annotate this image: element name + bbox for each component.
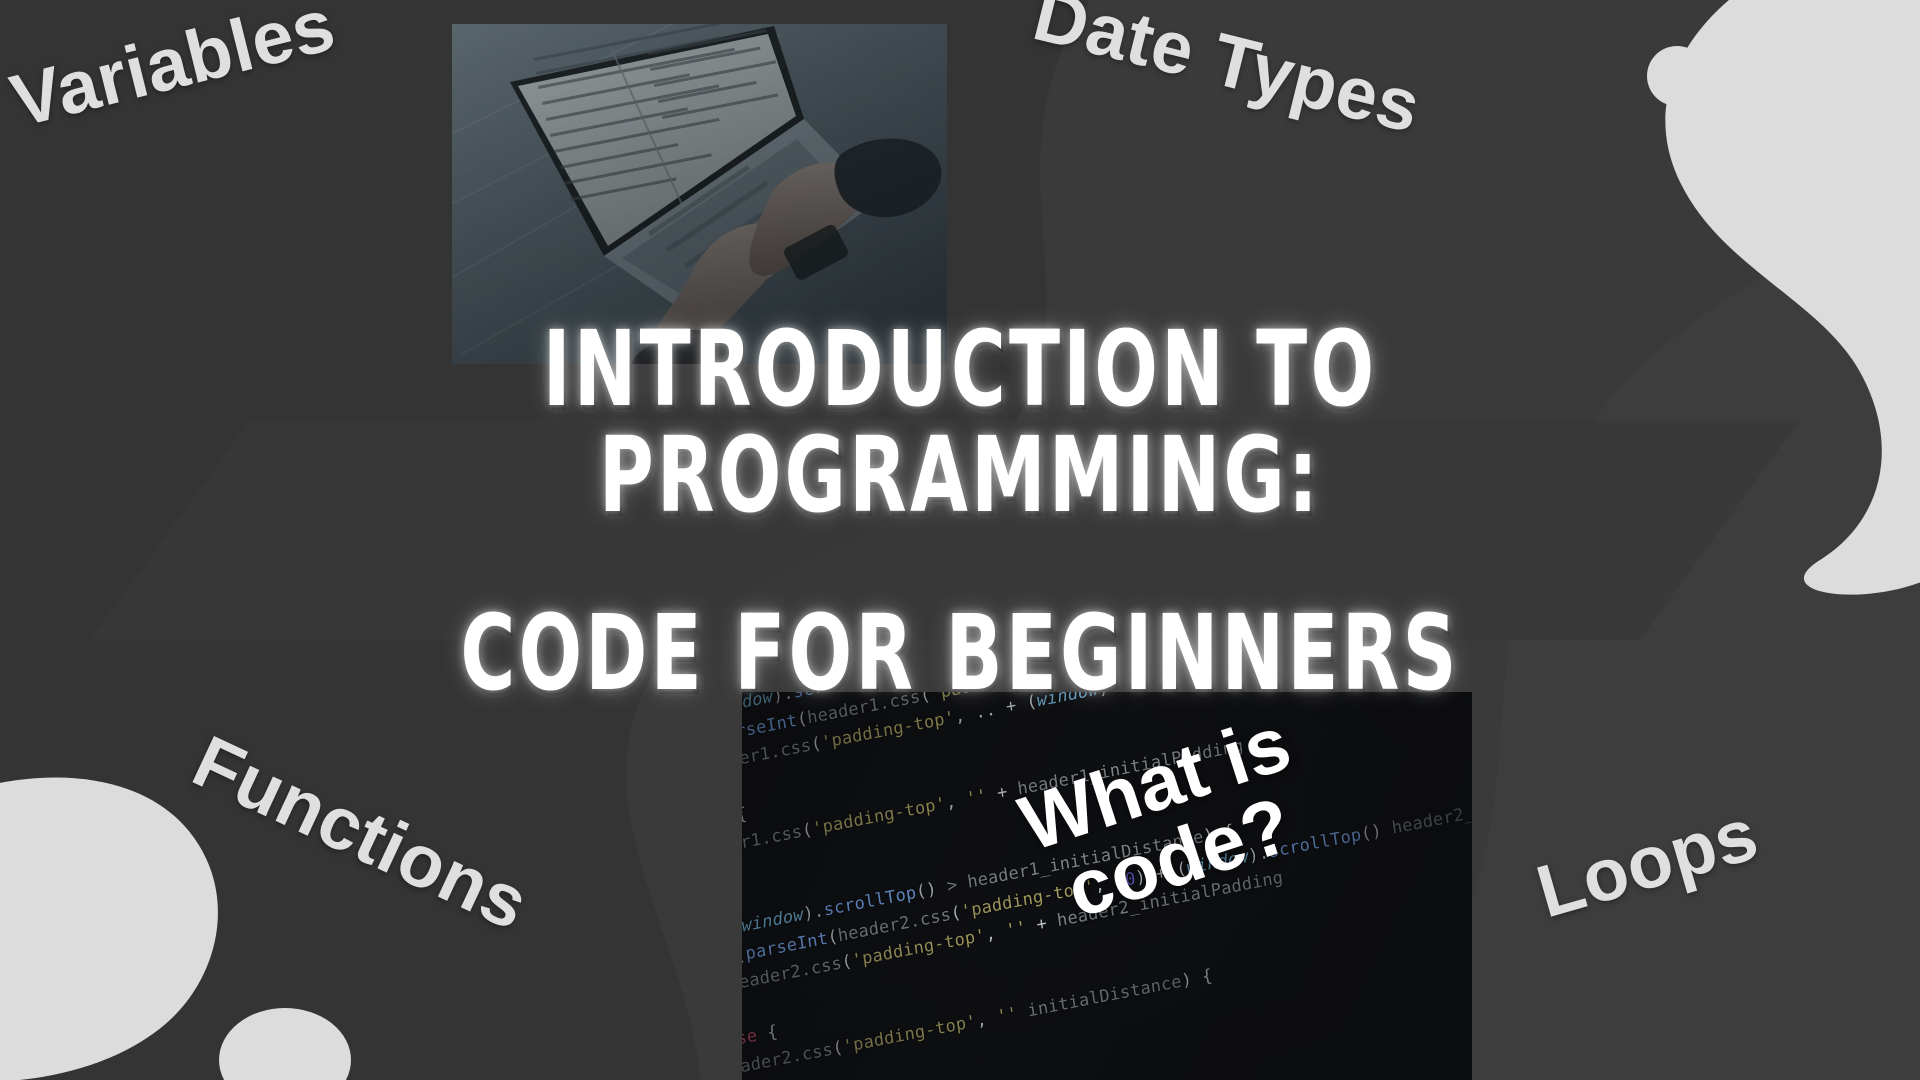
keyword-label-loops: Loops [1528,791,1767,935]
blob-bottom-left [0,777,218,1080]
dot-bottom-left [219,1008,351,1080]
title-line-2: Code for Beginners [192,600,1728,706]
dot-top-right [1647,46,1707,106]
presentation-slide: if ($(window).scrollTop() > header0_init… [0,0,1920,1080]
keyword-label-variables: Variables [3,0,343,144]
keyword-label-functions: Functions [181,718,541,946]
title-line-1: Introduction to Programming: [192,316,1728,528]
slide-title: Introduction to Programming: Code for Be… [0,316,1920,706]
keyword-label-date-types: Date Types [1026,0,1429,149]
